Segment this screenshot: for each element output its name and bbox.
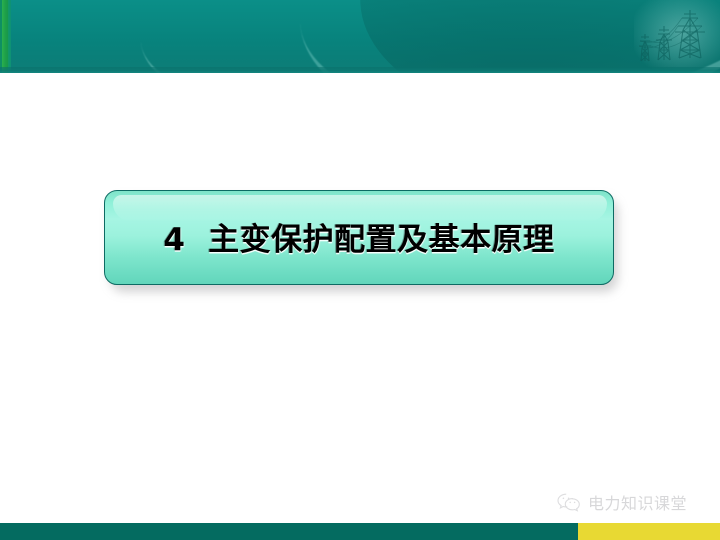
header-banner (0, 0, 720, 73)
section-title-container: 4 主变保护配置及基本原理 (104, 190, 616, 290)
slide-body (0, 73, 720, 523)
wechat-logo-icon (556, 491, 582, 513)
header-accent-stripe-inner (8, 0, 11, 73)
footer-bar-teal-segment (0, 523, 578, 540)
slide-canvas: 4 主变保护配置及基本原理 电力知识课堂 (0, 0, 720, 540)
watermark-label: 电力知识课堂 (588, 490, 687, 514)
transmission-tower-icon (634, 0, 720, 73)
section-title-text: 4 主变保护配置及基本原理 (104, 190, 614, 285)
watermark: 电力知识课堂 (556, 487, 708, 517)
footer-bar-yellow-segment (578, 523, 720, 540)
footer-bar (0, 523, 720, 540)
